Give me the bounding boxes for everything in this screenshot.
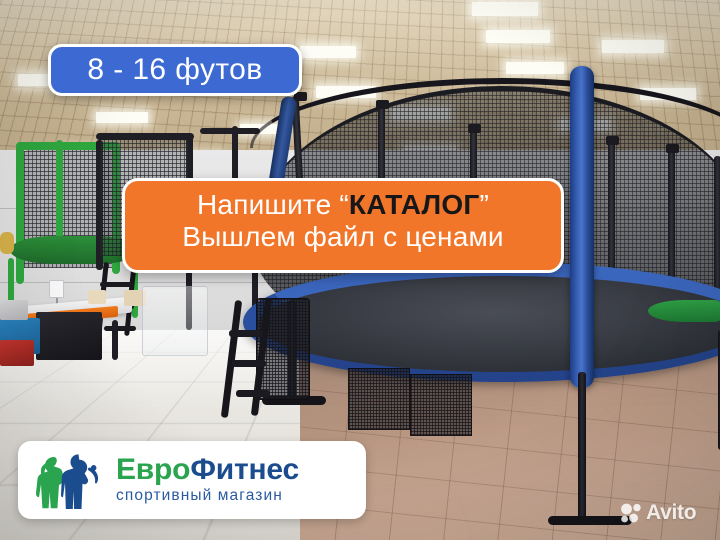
brand-logo-plate: ЕвроФитнес спортивный магазин [18,441,366,519]
cta-line1-prefix: Напишите [197,189,339,220]
catalog-cta-banner: Напишите “КАТАЛОГ” Вышлем файл с ценами [122,178,564,273]
cta-quote-close: ” [479,189,489,220]
green-accent-strip [648,300,720,322]
listing-image: 8 - 16 футов Напишите “КАТАЛОГ” Вышлем ф… [0,0,720,540]
logo-title: ЕвроФитнес [116,455,299,485]
cta-line-2: Вышлем файл с ценами [125,221,561,253]
logo-title-part2: Фитнес [190,453,299,486]
blue-pole-sleeve [570,66,594,388]
cta-line-1: Напишите “КАТАЛОГ” [125,189,561,221]
feet-range-badge: 8 - 16 футов [48,44,302,96]
logo-title-part1: Евро [116,453,190,486]
logo-subtitle: спортивный магазин [116,487,299,506]
cta-quote-open: “ [339,189,349,220]
avito-wordmark: Avito [646,502,696,523]
cta-keyword: КАТАЛОГ [349,189,480,220]
avito-dots-icon [620,503,642,523]
logo-wordmark: ЕвроФитнес спортивный магазин [116,455,299,506]
feet-range-label: 8 - 16 футов [87,55,262,85]
trampoline-mat [258,276,720,372]
glass-panel [142,286,208,356]
avito-watermark: Avito [620,502,696,523]
fitness-couple-icon [32,451,108,509]
